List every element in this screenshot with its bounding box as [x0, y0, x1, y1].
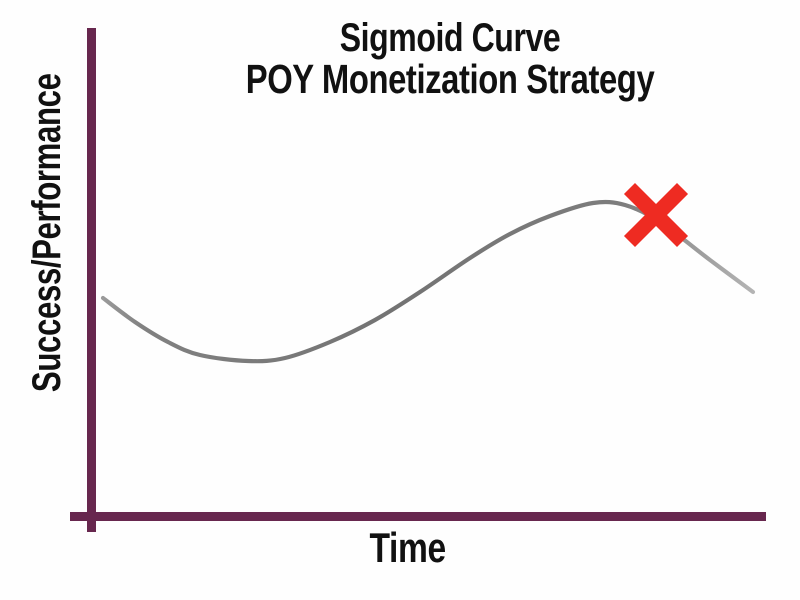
- plot-area: [0, 0, 800, 600]
- y-axis-label-text: Success/Performance: [25, 74, 70, 393]
- y-axis-label: Success/Performance: [25, 3, 87, 463]
- x-axis-label: Time: [308, 524, 508, 572]
- red-x-marker[interactable]: [617, 176, 695, 254]
- x-marker-strokes: [629, 188, 682, 241]
- x-axis-label-text: Time: [370, 524, 446, 572]
- chart-figure: Sigmoid Curve POY Monetization Strategy …: [0, 0, 800, 600]
